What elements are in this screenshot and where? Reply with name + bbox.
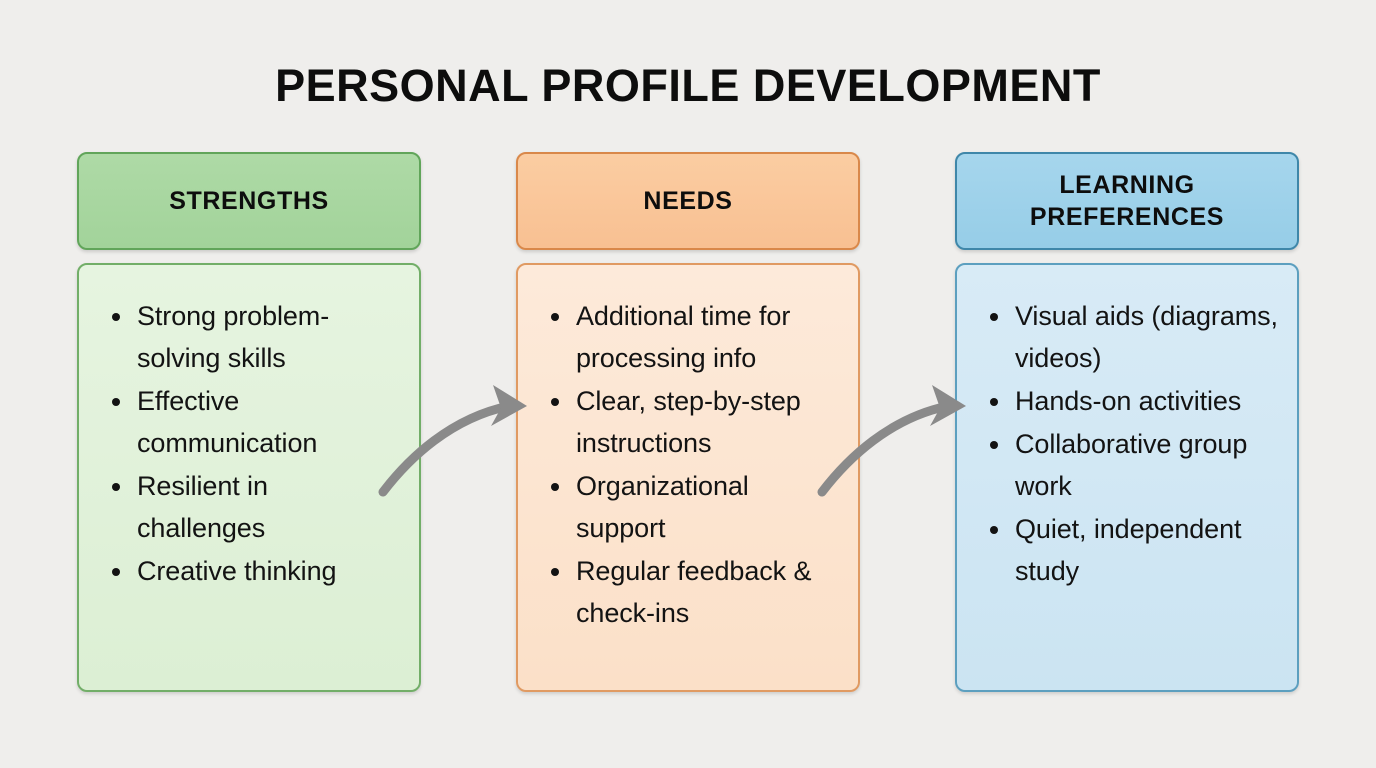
- card-header-needs[interactable]: NEEDS: [516, 152, 860, 250]
- list-item: Organizational support: [548, 465, 842, 549]
- list-item: Quiet, independent study: [987, 508, 1281, 592]
- column-strengths: STRENGTHS Strong problem-solving skills …: [77, 152, 421, 692]
- list-item: Collaborative group work: [987, 423, 1281, 507]
- list-item: Visual aids (diagrams, videos): [987, 295, 1281, 379]
- card-body-learning-preferences: Visual aids (diagrams, videos) Hands-on …: [955, 263, 1299, 692]
- column-needs: NEEDS Additional time for processing inf…: [516, 152, 860, 692]
- column-learning-preferences: LEARNING PREFERENCES Visual aids (diagra…: [955, 152, 1299, 692]
- card-body-needs: Additional time for processing info Clea…: [516, 263, 860, 692]
- list-item: Additional time for processing info: [548, 295, 842, 379]
- list-item: Clear, step-by-step instructions: [548, 380, 842, 464]
- bullet-list-strengths: Strong problem-solving skills Effective …: [79, 265, 419, 592]
- list-item: Regular feedback & check-ins: [548, 550, 842, 634]
- list-item: Creative thinking: [109, 550, 403, 592]
- card-header-label-needs: NEEDS: [643, 185, 732, 217]
- bullet-list-needs: Additional time for processing info Clea…: [518, 265, 858, 634]
- page-title: PERSONAL PROFILE DEVELOPMENT: [0, 58, 1376, 114]
- profile-columns: STRENGTHS Strong problem-solving skills …: [0, 152, 1376, 697]
- list-item: Hands-on activities: [987, 380, 1281, 422]
- list-item: Resilient in challenges: [109, 465, 403, 549]
- bullet-list-learning-preferences: Visual aids (diagrams, videos) Hands-on …: [957, 265, 1297, 592]
- card-header-label-strengths: STRENGTHS: [169, 185, 329, 217]
- list-item: Strong problem-solving skills: [109, 295, 403, 379]
- card-header-label-learning-preferences: LEARNING PREFERENCES: [1030, 169, 1224, 233]
- card-header-strengths[interactable]: STRENGTHS: [77, 152, 421, 250]
- card-body-strengths: Strong problem-solving skills Effective …: [77, 263, 421, 692]
- list-item: Effective communication: [109, 380, 403, 464]
- card-header-learning-preferences[interactable]: LEARNING PREFERENCES: [955, 152, 1299, 250]
